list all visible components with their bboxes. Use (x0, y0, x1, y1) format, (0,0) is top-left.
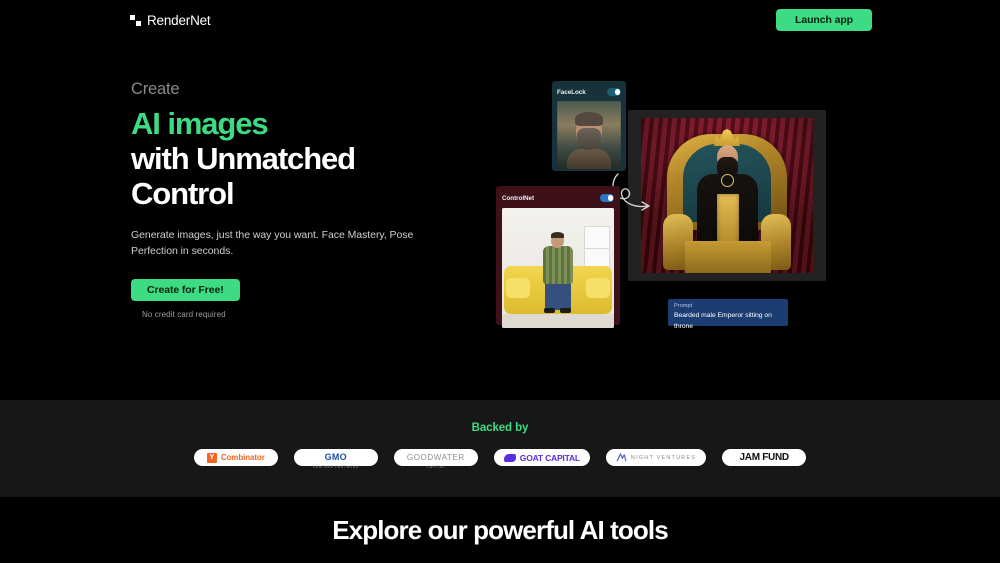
goat-icon (504, 454, 516, 462)
hero-copy: Create AI images with Unmatched Control … (131, 78, 441, 319)
headline-line-3: Control (131, 176, 441, 211)
photo-cushion-right (586, 278, 610, 298)
facelock-title: FaceLock (557, 89, 586, 96)
backed-by-section: Backed by Y Combinator GMO VENTURE PARTN… (0, 400, 1000, 497)
night-ventures-icon (616, 453, 627, 462)
controlnet-title: ControlNet (502, 195, 534, 202)
photo-cushion-left (506, 278, 530, 298)
photo-hair (551, 232, 564, 238)
create-for-free-button[interactable]: Create for Free! (131, 279, 240, 301)
prompt-label: Prompt (674, 303, 782, 310)
logo-jam-fund[interactable]: JAM FUND (722, 449, 806, 466)
logo-label: Combinator (221, 453, 265, 462)
controlnet-pose-photo (502, 208, 614, 328)
explore-section: Explore our powerful AI tools (0, 497, 1000, 563)
toggle-knob (615, 89, 621, 95)
facelock-card-header: FaceLock (557, 86, 621, 98)
hero-eyebrow: Create (131, 78, 441, 100)
hero-visual: Prompt Bearded male Emperor sitting on t… (490, 70, 850, 335)
photo-hair (575, 112, 603, 126)
emperor-necklace (721, 174, 734, 187)
backed-by-title: Backed by (0, 400, 1000, 434)
photo-shirt (543, 246, 573, 284)
hero-subcopy: Generate images, just the way you want. … (131, 227, 423, 259)
prompt-text: Bearded male Emperor sitting on throne (674, 310, 782, 332)
generated-image-emperor (641, 118, 813, 273)
logo-label: JAM FUND (740, 452, 789, 463)
photo-floor (502, 314, 614, 328)
rendernet-logo-icon (130, 15, 141, 26)
brand-name: RenderNet (147, 13, 211, 28)
photo-shoe-left (544, 308, 555, 313)
controlnet-toggle[interactable] (600, 194, 614, 202)
toggle-knob (608, 195, 614, 201)
controlnet-card-header: ControlNet (502, 192, 614, 204)
photo-shelf (584, 226, 610, 270)
logo-night-ventures[interactable]: NIGHT VENTURES (606, 449, 706, 466)
landing-page: RenderNet Launch app Create AI images wi… (0, 0, 1000, 563)
page-title: AI images with Unmatched Control (131, 106, 441, 211)
prompt-bar[interactable]: Prompt Bearded male Emperor sitting on t… (668, 299, 788, 326)
launch-app-button[interactable]: Launch app (776, 9, 872, 31)
cta-note: No credit card required (131, 310, 441, 319)
photo-shoe-right (560, 308, 571, 313)
facelock-reference-photo (557, 101, 621, 169)
site-header: RenderNet Launch app (0, 0, 1000, 40)
explore-title: Explore our powerful AI tools (332, 515, 668, 546)
headline-accent: AI images (131, 106, 441, 141)
logo-gmo[interactable]: GMO VENTURE PARTNERS (294, 449, 378, 466)
photo-legs (545, 280, 571, 310)
logo-label: GOODWATER (407, 453, 465, 462)
throne-base (685, 241, 771, 273)
facelock-toggle[interactable] (607, 88, 621, 96)
headline-line-2: with Unmatched (131, 141, 441, 176)
logo-goat-capital[interactable]: GOAT CAPITAL (494, 449, 590, 466)
logo-y-combinator[interactable]: Y Combinator (194, 449, 278, 466)
logo-label: GOAT CAPITAL (520, 453, 580, 463)
logo-goodwater-capital[interactable]: GOODWATER CAPITAL (394, 449, 478, 466)
investor-logo-list: Y Combinator GMO VENTURE PARTNERS GOODWA… (0, 449, 1000, 466)
facelock-card[interactable]: FaceLock (552, 81, 626, 171)
logo-label: NIGHT VENTURES (631, 455, 696, 461)
logo-sublabel: CAPITAL (407, 465, 465, 469)
y-combinator-icon: Y (207, 453, 217, 463)
brand-logo[interactable]: RenderNet (130, 13, 211, 28)
controlnet-card[interactable]: ControlNet (496, 186, 620, 325)
photo-beard (577, 128, 601, 150)
logo-label: GMO (325, 452, 347, 462)
photo-torso (567, 149, 611, 169)
logo-sublabel: VENTURE PARTNERS (313, 465, 359, 469)
